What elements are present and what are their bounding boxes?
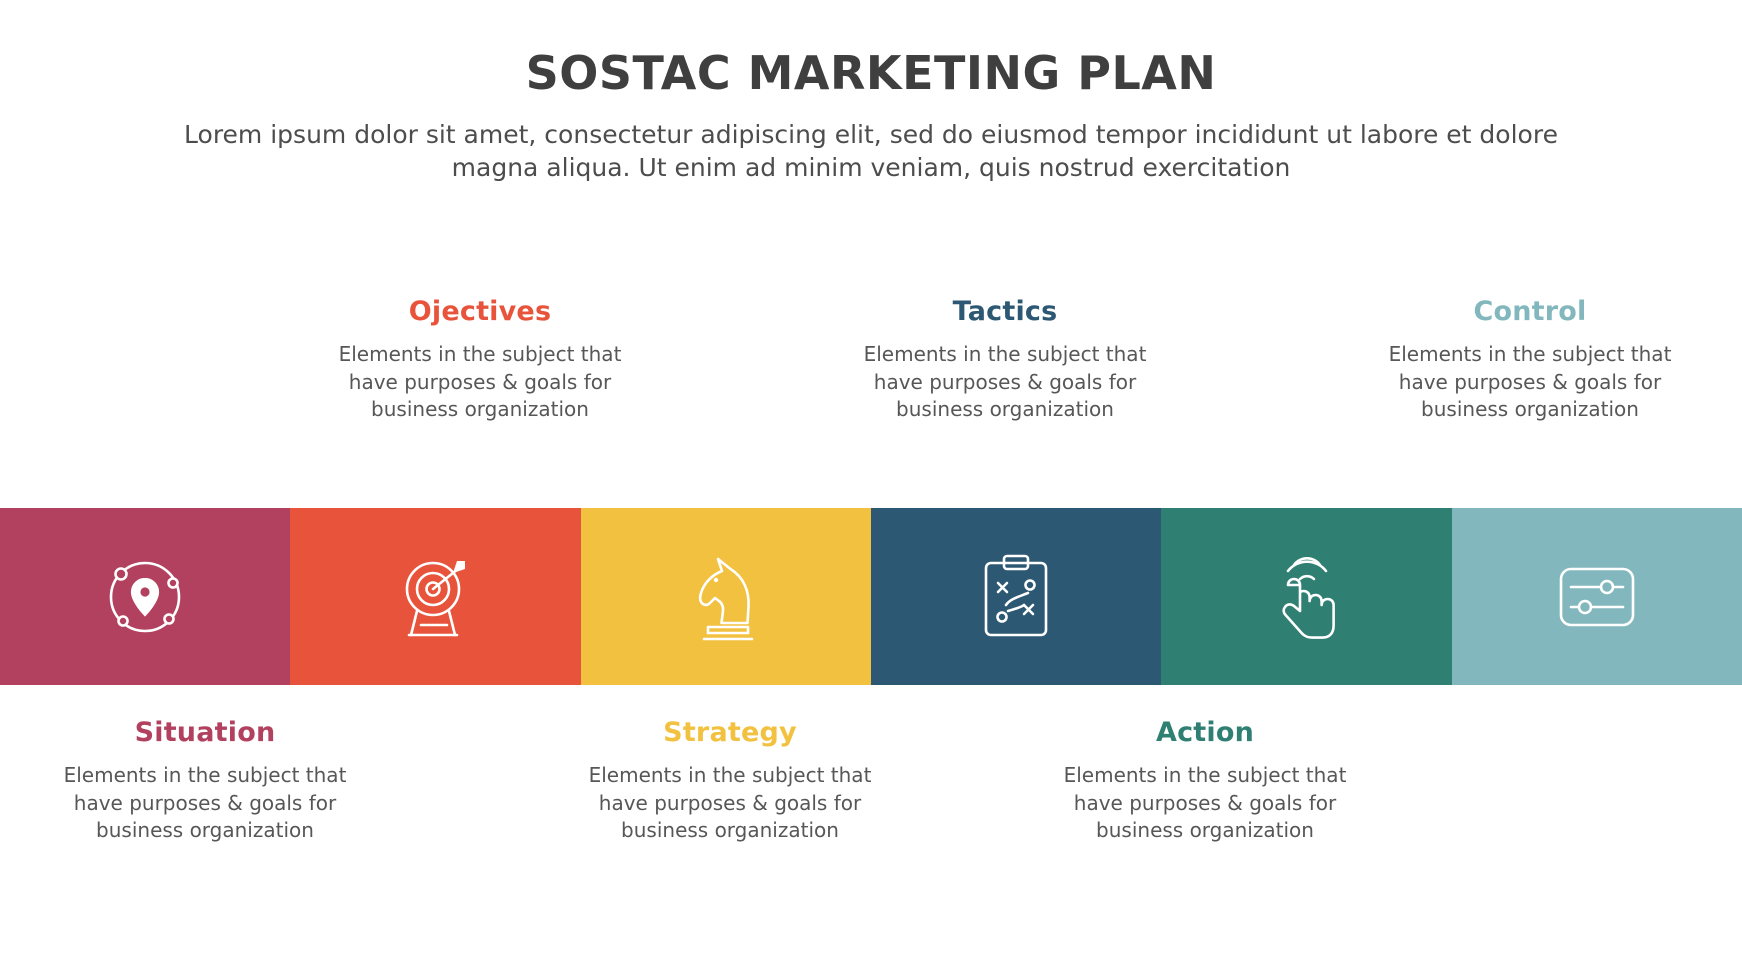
description-control: Elements in the subject that have purpos… xyxy=(1380,341,1680,424)
hand-tap-icon xyxy=(1258,549,1354,645)
page-subtitle: Lorem ipsum dolor sit amet, consectetur … xyxy=(141,118,1601,185)
description-strategy: Elements in the subject that have purpos… xyxy=(580,762,880,845)
block-control[interactable] xyxy=(1452,508,1742,685)
infographic-canvas: SOSTAC MARKETING PLAN Lorem ipsum dolor … xyxy=(0,0,1742,980)
text-group-objectives: Ojectives Elements in the subject that h… xyxy=(330,296,630,424)
description-action: Elements in the subject that have purpos… xyxy=(1055,762,1355,845)
description-situation: Elements in the subject that have purpos… xyxy=(55,762,355,845)
sliders-icon xyxy=(1549,549,1645,645)
text-group-tactics: Tactics Elements in the subject that hav… xyxy=(855,296,1155,424)
heading-control: Control xyxy=(1380,296,1680,327)
block-tactics[interactable] xyxy=(871,508,1161,685)
heading-tactics: Tactics xyxy=(855,296,1155,327)
description-tactics: Elements in the subject that have purpos… xyxy=(855,341,1155,424)
location-network-icon xyxy=(97,549,193,645)
description-objectives: Elements in the subject that have purpos… xyxy=(330,341,630,424)
target-dart-icon xyxy=(387,549,483,645)
heading-objectives: Ojectives xyxy=(330,296,630,327)
clipboard-plan-icon xyxy=(968,549,1064,645)
text-group-strategy: Strategy Elements in the subject that ha… xyxy=(580,717,880,845)
text-group-control: Control Elements in the subject that hav… xyxy=(1380,296,1680,424)
block-action[interactable] xyxy=(1161,508,1451,685)
heading-action: Action xyxy=(1055,717,1355,748)
header: SOSTAC MARKETING PLAN Lorem ipsum dolor … xyxy=(0,48,1742,185)
page-title: SOSTAC MARKETING PLAN xyxy=(0,48,1742,100)
text-group-action: Action Elements in the subject that have… xyxy=(1055,717,1355,845)
color-band xyxy=(0,508,1742,685)
heading-strategy: Strategy xyxy=(580,717,880,748)
block-strategy[interactable] xyxy=(581,508,871,685)
heading-situation: Situation xyxy=(55,717,355,748)
block-situation[interactable] xyxy=(0,508,290,685)
text-group-situation: Situation Elements in the subject that h… xyxy=(55,717,355,845)
block-objectives[interactable] xyxy=(290,508,580,685)
chess-knight-icon xyxy=(678,549,774,645)
